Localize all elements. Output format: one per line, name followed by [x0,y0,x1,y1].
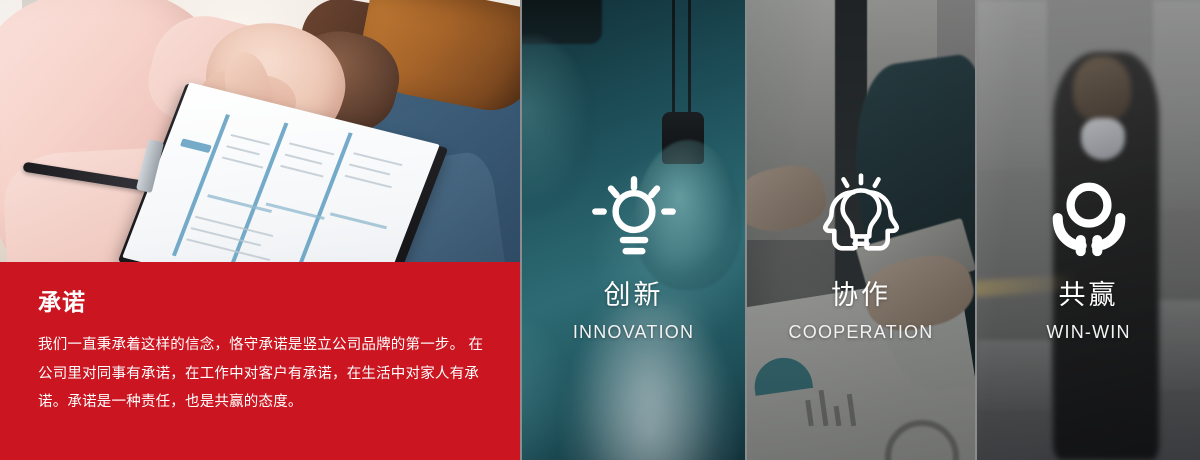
value-title-cn: 创新 [604,282,664,309]
value-panel-cooperation[interactable]: 协作 COOPERATION [745,0,975,460]
commitment-red-band: 承诺 我们一直秉承着这样的信念，恪守承诺是竖立公司品牌的第一步。 在公司里对同事… [0,262,520,460]
commitment-panel: 承诺 我们一直秉承着这样的信念，恪守承诺是竖立公司品牌的第一步。 在公司里对同事… [0,0,520,460]
value-title-cn: 共赢 [1059,282,1119,309]
commitment-title: 承诺 [38,290,486,315]
value-title-en: WIN-WIN [1046,323,1130,341]
commitment-body: 我们一直秉承着这样的信念，恪守承诺是竖立公司品牌的第一步。 在公司里对同事有承诺… [38,331,486,416]
two-heads-idea-icon [815,172,907,264]
background-bulb [520,320,572,460]
value-title-en: INNOVATION [573,323,694,341]
lightbulb-icon [588,172,680,264]
value-title-cn: 协作 [831,282,891,309]
values-banner: 承诺 我们一直秉承着这样的信念，恪守承诺是竖立公司品牌的第一步。 在公司里对同事… [0,0,1200,460]
value-title-en: COOPERATION [789,323,934,341]
hands-holding-circle-icon [1043,172,1135,264]
value-panel-winwin[interactable]: 共赢 WIN-WIN [975,0,1200,460]
value-panel-innovation[interactable]: 创新 INNOVATION [520,0,745,460]
